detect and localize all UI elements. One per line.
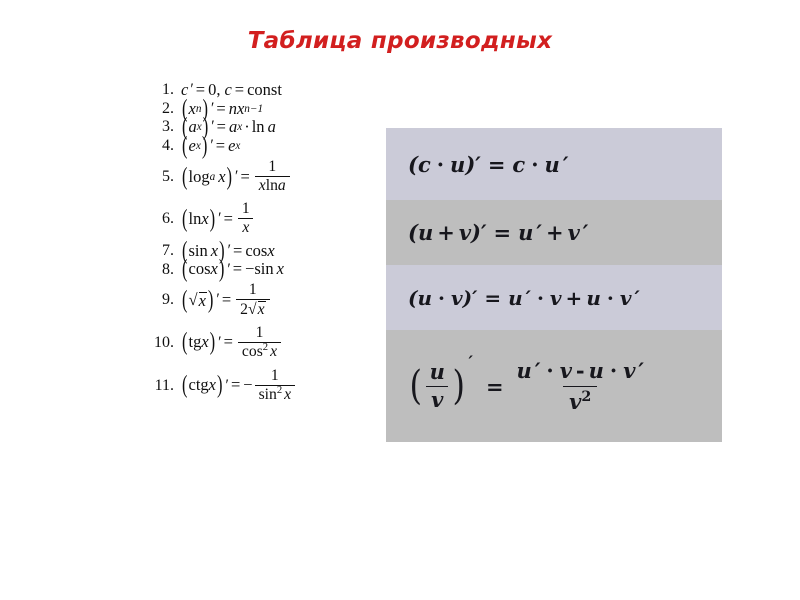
derivatives-formula-list: 1. c′ = 0, c = const 2. (xn)′ = nxn−1 3.… [148, 82, 378, 406]
paren-open: ( [182, 164, 188, 190]
formula-3-base: a [189, 119, 197, 136]
formula-3-log-arg: a [265, 119, 276, 136]
plus-sign: + [542, 220, 568, 245]
formula-row: 8. (cosx)′ = −sinx [148, 261, 378, 278]
formula-1-rhs: 0, [208, 82, 220, 99]
formula-row: 11. (ctgx)′ = − 1 sin2x [148, 368, 378, 404]
formula-number: 10. [148, 335, 181, 351]
fraction-numerator: 1 [238, 201, 254, 218]
paren-close: ) [219, 257, 225, 283]
formula-11-den-func: sin [259, 386, 277, 403]
formula-number: 8. [148, 262, 181, 278]
rule-formula: (u+v)′ = u′+v′ [408, 220, 588, 245]
rule-band-sum: (u+v)′ = u′+v′ [386, 200, 722, 265]
rule-1-left-b: u [450, 152, 465, 177]
equals-sign: = [228, 377, 243, 394]
rule-1-right-b: u [545, 152, 560, 177]
formula-11-arg: x [209, 377, 216, 394]
fraction-denominator: sin2x [255, 385, 296, 403]
formula-body: (ex)′ = ex [181, 138, 240, 155]
paren-open: ( [182, 330, 188, 356]
radical-sign: √ [248, 301, 257, 318]
paren-close: ) [463, 286, 472, 310]
formula-number: 5. [148, 169, 181, 185]
plus-sign: + [433, 220, 459, 245]
rule-3-term1-b: v [550, 286, 562, 310]
formula-2-base: x [189, 101, 196, 118]
formula-body: (xn)′ = nxn−1 [181, 101, 263, 118]
equals-sign: = [230, 243, 245, 260]
num-c: u [589, 358, 604, 383]
rule-2-left-a: u [418, 220, 433, 245]
formula-number: 9. [148, 292, 181, 308]
paren-close: ) [217, 373, 223, 399]
formula-number: 6. [148, 211, 181, 227]
fraction: 1 2√x [236, 282, 269, 319]
rule-3-term2-b: v [620, 286, 632, 310]
formula-10-den-func: cos [242, 343, 263, 360]
minus-sign: - [572, 358, 589, 383]
result-numerator: u′·v-u·v′ [511, 358, 650, 385]
formula-11-den-arg: x [282, 386, 291, 403]
fraction-denominator: xlna [255, 176, 290, 194]
rule-formula: (u·v)′ = u′·v+u·v′ [408, 286, 640, 310]
fraction-denominator: 2√x [236, 299, 269, 318]
formula-body: (logax)′ = 1 xlna [181, 159, 292, 195]
equals-sign: = [213, 138, 228, 155]
rule-band-product: (u·v)′ = u′·v+u·v′ [386, 265, 722, 330]
equals-sign: = [214, 119, 229, 136]
paren-close: ) [210, 206, 216, 232]
result-denominator: v2 [563, 386, 597, 414]
rule-1-left-a: c [418, 152, 431, 177]
prime-mark: ′ [635, 358, 644, 383]
prime-mark: ′ [533, 220, 542, 245]
formula-3-rhs-base: a [229, 119, 237, 136]
paren-open: ( [408, 152, 418, 177]
formula-number: 1. [148, 82, 181, 98]
formula-2-rhs-base: x [237, 101, 244, 118]
equals-sign: = [479, 374, 511, 399]
formula-11-func: ctg [189, 377, 209, 394]
paren-close: ) [471, 220, 481, 245]
radical-sign: √ [189, 292, 198, 309]
formula-8-arg: x [211, 261, 218, 278]
formula-body: (ctgx)′ = − 1 sin2x [181, 368, 297, 404]
formula-number: 2. [148, 101, 181, 117]
fraction: 1 sin2x [255, 368, 296, 404]
formula-10-func: tg [189, 334, 202, 351]
prime-mark: ′ [560, 152, 569, 177]
rule-band-constant-multiple: (c·u)′ = c·u′ [386, 128, 722, 200]
equals-sign: = [487, 220, 519, 245]
multiplication-dot: · [431, 152, 450, 177]
formula-number: 11. [148, 378, 181, 394]
paren-open: ( [182, 206, 188, 232]
formula-7-rhs-arg: x [267, 243, 274, 260]
multiplication-dot: · [531, 286, 550, 310]
formula-5-den-var: x [259, 177, 266, 194]
formula-7-arg: x [208, 243, 218, 260]
rule-1-right-a: c [512, 152, 525, 177]
rule-3-term2-a: u [586, 286, 601, 310]
equals-sign: = [481, 152, 513, 177]
formula-9-den-coef: 2 [240, 301, 248, 318]
rule-2-right-b: v [568, 220, 580, 245]
formula-5-arg: x [215, 169, 225, 186]
formula-6-arg: x [201, 211, 208, 228]
formula-row: 4. (ex)′ = ex [148, 138, 378, 155]
formula-5-func: log [189, 169, 210, 186]
rule-3-left-b: v [451, 286, 463, 310]
result-fraction: u′·v-u·v′ v2 [511, 358, 650, 413]
formula-5-den-log: ln [266, 177, 278, 194]
fraction-denominator: x [238, 218, 253, 236]
formula-5-den-base: a [278, 177, 286, 194]
rule-formula: (c·u)′ = c·u′ [408, 152, 568, 177]
formula-2-coef: n [229, 101, 237, 118]
rule-band-quotient: ( u v ) ′ = u′·v-u·v′ v2 [386, 330, 722, 442]
equals-sign: = [221, 211, 236, 228]
minus-sign: − [243, 377, 252, 394]
formula-row: 5. (logax)′ = 1 xlna [148, 159, 378, 195]
paren-close: ) [452, 370, 464, 402]
formula-body: (lnx)′ = 1 x [181, 201, 256, 237]
formula-number: 4. [148, 138, 181, 154]
formula-7-rhs-func: cos [245, 243, 267, 260]
paren-open: ( [182, 257, 188, 283]
formula-body: c′ = 0, c = const [181, 82, 282, 99]
den-power: 2 [581, 389, 591, 405]
paren-open: ( [182, 287, 188, 313]
formula-body: (tgx)′ = 1 cos2x [181, 325, 283, 361]
equals-sign: = [477, 286, 508, 310]
multiplication-dot: · [540, 358, 559, 383]
minus-sign: − [245, 261, 254, 278]
quotient-fraction: u v [425, 360, 450, 411]
plus-sign: + [562, 286, 587, 310]
num-b: v [560, 358, 572, 383]
formula-1-tail-var: c [220, 82, 231, 99]
fraction-numerator: 1 [267, 368, 283, 385]
formula-body: (ax)′ = ax · lna [181, 119, 276, 136]
rule-3-term1-a: u [508, 286, 523, 310]
rule-formula: ( u v ) ′ = u′·v-u·v′ v2 [408, 358, 650, 413]
den-base: v [569, 389, 581, 414]
equals-sign: = [219, 292, 234, 309]
paren-close: ) [465, 152, 475, 177]
multiplication-dot: · [242, 119, 252, 136]
fraction-numerator: 1 [252, 325, 268, 342]
formula-8-rhs-arg: x [274, 261, 284, 278]
multiplication-dot: · [525, 152, 544, 177]
fraction-numerator: 1 [264, 159, 280, 176]
formula-1-const: const [247, 82, 282, 99]
fraction: 1 x [238, 201, 254, 237]
multiplication-dot: · [604, 358, 623, 383]
differentiation-rules-panel: (c·u)′ = c·u′ (u+v)′ = u′+v′ (u·v)′ = u′… [386, 128, 722, 442]
formula-10-den-arg: x [268, 343, 277, 360]
paren-close: ) [208, 287, 214, 313]
formula-3-log: ln [252, 119, 265, 136]
prime-mark: ′ [580, 220, 589, 245]
multiplication-dot: · [601, 286, 620, 310]
formula-9-den-arg: x [258, 301, 266, 318]
paren-open: ( [410, 370, 422, 402]
num-a: u [517, 358, 532, 383]
formula-body: (sinx)′ = cosx [181, 243, 275, 260]
equals-sign: = [237, 169, 252, 186]
paren-close: ) [210, 330, 216, 356]
rule-3-left-a: u [417, 286, 432, 310]
equals-sign: = [230, 261, 245, 278]
multiplication-dot: · [432, 286, 451, 310]
equals-sign-2: = [232, 82, 247, 99]
num-d: v [623, 358, 635, 383]
page-title: Таблица производных [0, 28, 800, 54]
equals-sign: = [221, 334, 236, 351]
formula-7-func: sin [189, 243, 208, 260]
formula-8-func: cos [189, 261, 211, 278]
formula-row: 9. (√x)′ = 1 2√x [148, 282, 378, 319]
rule-2-right-a: u [518, 220, 533, 245]
prime-mark: ′ [631, 286, 639, 310]
formula-8-rhs-func: sin [254, 261, 273, 278]
formula-body: (√x)′ = 1 2√x [181, 282, 272, 319]
paren-open: ( [408, 220, 418, 245]
formula-row: 6. (lnx)′ = 1 x [148, 201, 378, 237]
prime-mark: ′ [523, 286, 531, 310]
fraction: 1 cos2x [238, 325, 281, 361]
rule-2-left-b: v [459, 220, 471, 245]
formula-number: 3. [148, 119, 181, 135]
fraction: 1 xlna [255, 159, 290, 195]
fraction-numerator: 1 [245, 282, 261, 299]
paren-close: ) [202, 133, 208, 159]
fraction-denominator: cos2x [238, 342, 281, 360]
formula-body: (cosx)′ = −sinx [181, 261, 284, 278]
equals-sign: = [213, 101, 228, 118]
formula-row: 10. (tgx)′ = 1 cos2x [148, 325, 378, 361]
paren-open: ( [182, 373, 188, 399]
formula-9-arg: x [199, 292, 207, 310]
formula-4-base: e [189, 138, 196, 155]
formula-6-func: ln [189, 211, 202, 228]
paren-open: ( [182, 133, 188, 159]
paren-open: ( [408, 286, 417, 310]
formula-10-arg: x [201, 334, 208, 351]
formula-number: 7. [148, 243, 181, 259]
paren-close: ) [227, 164, 233, 190]
quotient-denominator: v [426, 386, 448, 412]
quotient-numerator: u [425, 360, 450, 385]
